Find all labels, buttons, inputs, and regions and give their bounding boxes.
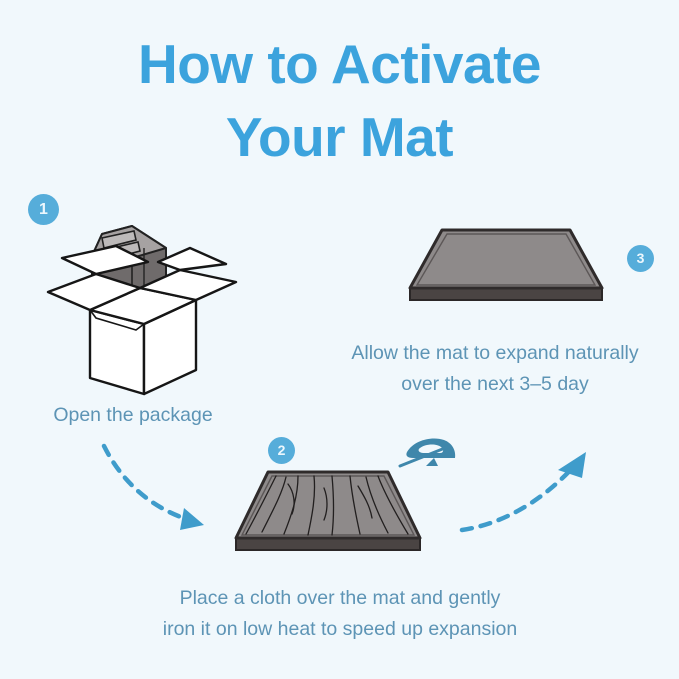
flat-mat-illustration: [398, 222, 613, 310]
open-box-illustration: [40, 218, 240, 398]
step-badge-3: 3: [627, 245, 654, 272]
page-title: How to Activate Your Mat: [0, 28, 679, 173]
step-caption-3: Allow the mat to expand naturally over t…: [322, 338, 668, 400]
arrow-step1-to-step2: [100, 438, 225, 538]
infographic-canvas: How to Activate Your Mat 1: [0, 0, 679, 679]
title-line-2: Your Mat: [0, 101, 679, 174]
title-line-1: How to Activate: [138, 33, 541, 95]
iron-icon: [398, 432, 460, 480]
step-caption-2: Place a cloth over the mat and gently ir…: [90, 583, 590, 645]
step-caption-1: Open the package: [0, 400, 266, 431]
step-badge-2: 2: [268, 437, 295, 464]
arrow-step2-to-step3: [458, 440, 598, 540]
